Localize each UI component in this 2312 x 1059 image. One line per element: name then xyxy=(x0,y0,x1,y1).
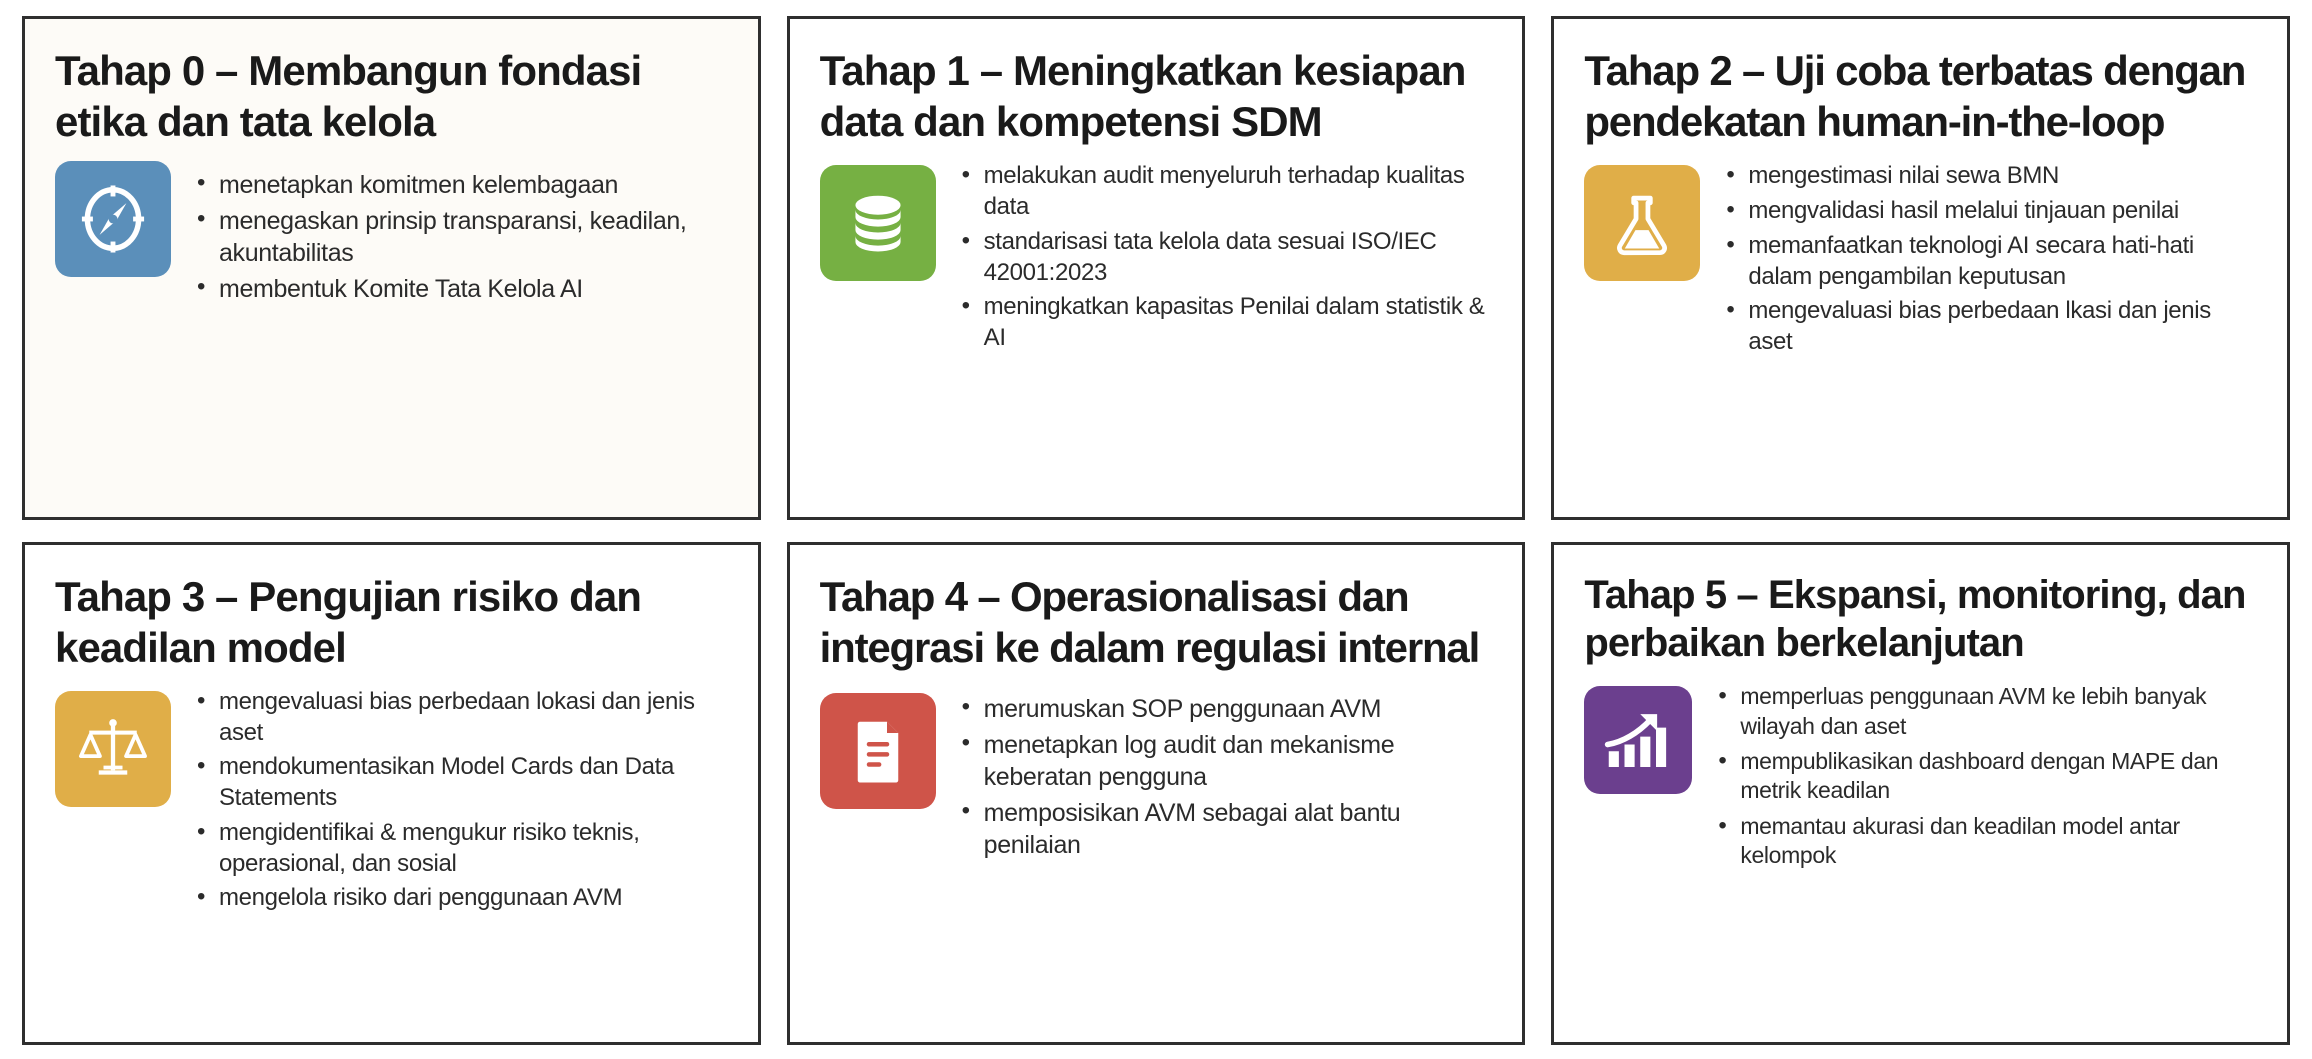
card-body-tahap-3: mengevaluasi bias perbedaan lokasi dan j… xyxy=(55,687,732,1022)
bullet-list-tahap-0: menetapkan komitmen kelembagaan menegask… xyxy=(195,161,732,309)
growth-chart-icon xyxy=(1584,686,1692,794)
scales-icon xyxy=(55,691,171,807)
compass-icon xyxy=(55,161,171,277)
list-item: mengelola risiko dari penggunaan AVM xyxy=(195,883,732,914)
card-body-tahap-4: merumuskan SOP penggunaan AVM menetapkan… xyxy=(820,687,1497,1022)
card-title-tahap-5: Tahap 5 – Ekspansi, monitoring, dan perb… xyxy=(1584,571,2261,669)
list-item: membentuk Komite Tata Kelola AI xyxy=(195,273,732,305)
list-item: mendokumentasikan Model Cards dan Data S… xyxy=(195,752,732,813)
list-item: mempublikasikan dashboard dengan MAPE da… xyxy=(1716,747,2261,806)
database-icon xyxy=(820,165,936,281)
card-title-tahap-3: Tahap 3 – Pengujian risiko dan keadilan … xyxy=(55,571,732,673)
card-title-tahap-1: Tahap 1 – Meningkatkan kesiapan data dan… xyxy=(820,45,1497,147)
list-item: menetapkan log audit dan mekanisme keber… xyxy=(960,729,1497,793)
list-item: melakukan audit menyeluruh terhadap kual… xyxy=(960,161,1497,222)
list-item: menetapkan komitmen kelembagaan xyxy=(195,169,732,201)
list-item: mengevaluasi bias perbedaan lokasi dan j… xyxy=(195,687,732,748)
card-tahap-5: Tahap 5 – Ekspansi, monitoring, dan perb… xyxy=(1551,542,2290,1046)
list-item: memperluas penggunaan AVM ke lebih banya… xyxy=(1716,682,2261,741)
card-body-tahap-5: memperluas penggunaan AVM ke lebih banya… xyxy=(1584,682,2261,1022)
list-item: standarisasi tata kelola data sesuai ISO… xyxy=(960,227,1497,288)
document-icon xyxy=(820,693,936,809)
list-item: mengestimasi nilai sewa BMN xyxy=(1724,161,2261,192)
flask-icon xyxy=(1584,165,1700,281)
list-item: meningkatkan kapasitas Penilai dalam sta… xyxy=(960,292,1497,353)
card-tahap-0: Tahap 0 – Membangun fondasi etika dan ta… xyxy=(22,16,761,520)
list-item: memanfaatkan teknologi AI secara hati-ha… xyxy=(1724,231,2261,292)
bullet-list-tahap-4: merumuskan SOP penggunaan AVM menetapkan… xyxy=(960,687,1497,865)
card-title-tahap-4: Tahap 4 – Operasionalisasi dan integrasi… xyxy=(820,571,1497,673)
list-item: merumuskan SOP penggunaan AVM xyxy=(960,693,1497,725)
card-tahap-2: Tahap 2 – Uji coba terbatas dengan pende… xyxy=(1551,16,2290,520)
card-title-tahap-2: Tahap 2 – Uji coba terbatas dengan pende… xyxy=(1584,45,2261,147)
card-title-tahap-0: Tahap 0 – Membangun fondasi etika dan ta… xyxy=(55,45,732,147)
roadmap-board: Tahap 0 – Membangun fondasi etika dan ta… xyxy=(0,0,2312,1059)
card-body-tahap-0: menetapkan komitmen kelembagaan menegask… xyxy=(55,161,732,496)
card-body-tahap-1: melakukan audit menyeluruh terhadap kual… xyxy=(820,161,1497,496)
bullet-list-tahap-5: memperluas penggunaan AVM ke lebih banya… xyxy=(1716,682,2261,877)
list-item: mengidentifikai & mengukur risiko teknis… xyxy=(195,818,732,879)
bullet-list-tahap-2: mengestimasi nilai sewa BMN mengvalidasi… xyxy=(1724,161,2261,361)
list-item: menegaskan prinsip transparansi, keadila… xyxy=(195,205,732,269)
card-tahap-4: Tahap 4 – Operasionalisasi dan integrasi… xyxy=(787,542,1526,1046)
bullet-list-tahap-1: melakukan audit menyeluruh terhadap kual… xyxy=(960,161,1497,357)
card-body-tahap-2: mengestimasi nilai sewa BMN mengvalidasi… xyxy=(1584,161,2261,496)
list-item: memposisikan AVM sebagai alat bantu peni… xyxy=(960,797,1497,861)
list-item: mengvalidasi hasil melalui tinjauan peni… xyxy=(1724,196,2261,227)
card-tahap-3: Tahap 3 – Pengujian risiko dan keadilan … xyxy=(22,542,761,1046)
list-item: mengevaluasi bias perbedaan lkasi dan je… xyxy=(1724,296,2261,357)
list-item: memantau akurasi dan keadilan model anta… xyxy=(1716,812,2261,871)
bullet-list-tahap-3: mengevaluasi bias perbedaan lokasi dan j… xyxy=(195,687,732,918)
card-tahap-1: Tahap 1 – Meningkatkan kesiapan data dan… xyxy=(787,16,1526,520)
